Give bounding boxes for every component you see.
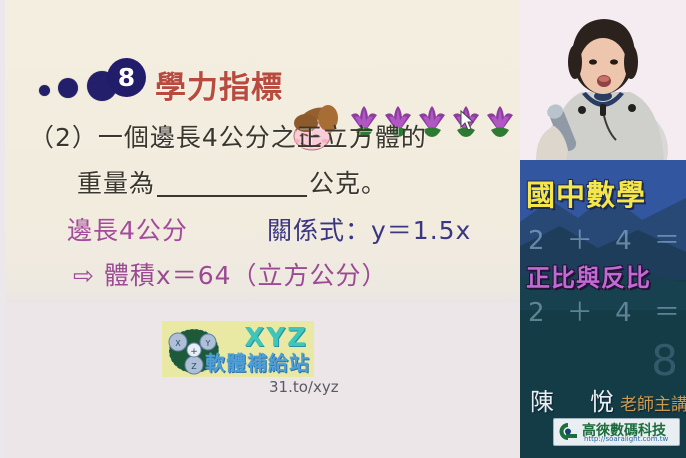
xyz-watermark: + X Y Z XYZ 軟體補給站 [162, 321, 314, 377]
presenter-credit: 陳 悅老師主講 [530, 382, 680, 417]
watermark-url: 31.to/xyz [269, 378, 339, 396]
poster-ghost-digit: 8 [651, 336, 678, 385]
question-line-1: （2）一個邊長4公分之正立方體的 [29, 118, 427, 154]
watermark-subtitle: 軟體補給站 [205, 347, 310, 376]
working-given: 邊長4公分 [67, 211, 188, 247]
poster-subtitle: 正比與反比 [526, 258, 686, 293]
presenter-role: 老師主講 [620, 395, 686, 415]
working-relation: 關係式：y＝1.5x [267, 211, 471, 247]
dot-small-icon [39, 85, 50, 96]
page-title: 學力指標 [155, 62, 283, 107]
presenter-name: 陳 悅 [530, 388, 620, 416]
question-line-2: 重量為公克。 [77, 164, 387, 200]
company-url: http://soaralight.com.tw [584, 435, 668, 443]
section-number-badge: 8 [107, 58, 146, 97]
company-mark-icon [557, 422, 579, 441]
company-logo: 高徠數碼科技 http://soaralight.com.tw [553, 418, 680, 446]
dot-medium-icon [58, 78, 78, 98]
poster-title: 國中數學 [526, 172, 686, 214]
svg-text:+: + [190, 347, 198, 357]
working-volume: ⇨ 體積x＝64（立方公分） [73, 256, 388, 292]
poster-equation-2: 2 ＋ 4 ＝ 6 [528, 292, 686, 329]
question-line-2-suffix: 公克。 [309, 169, 387, 198]
presenter-video[interactable] [520, 0, 686, 160]
svg-text:Z: Z [191, 362, 197, 371]
screen: 8 學力指標 [0, 0, 686, 458]
poster-equation: 2 ＋ 4 ＝ 6 [528, 220, 686, 257]
course-poster: 2 ＋ 4 ＝ 6 國中數學 正比與反比 2 ＋ 4 ＝ 6 8 陳 悅老師主講… [520, 160, 686, 458]
slide-header: 8 學力指標 [5, 48, 520, 104]
right-panel: 2 ＋ 4 ＝ 6 國中數學 正比與反比 2 ＋ 4 ＝ 6 8 陳 悅老師主講… [520, 0, 686, 458]
mouse-cursor-icon [460, 110, 476, 132]
question-line-2-prefix: 重量為 [77, 169, 155, 198]
tulip-icon [485, 103, 515, 139]
slide-canvas: 8 學力指標 [5, 0, 520, 458]
svg-text:X: X [175, 339, 181, 348]
answer-blank-field[interactable] [157, 174, 307, 197]
